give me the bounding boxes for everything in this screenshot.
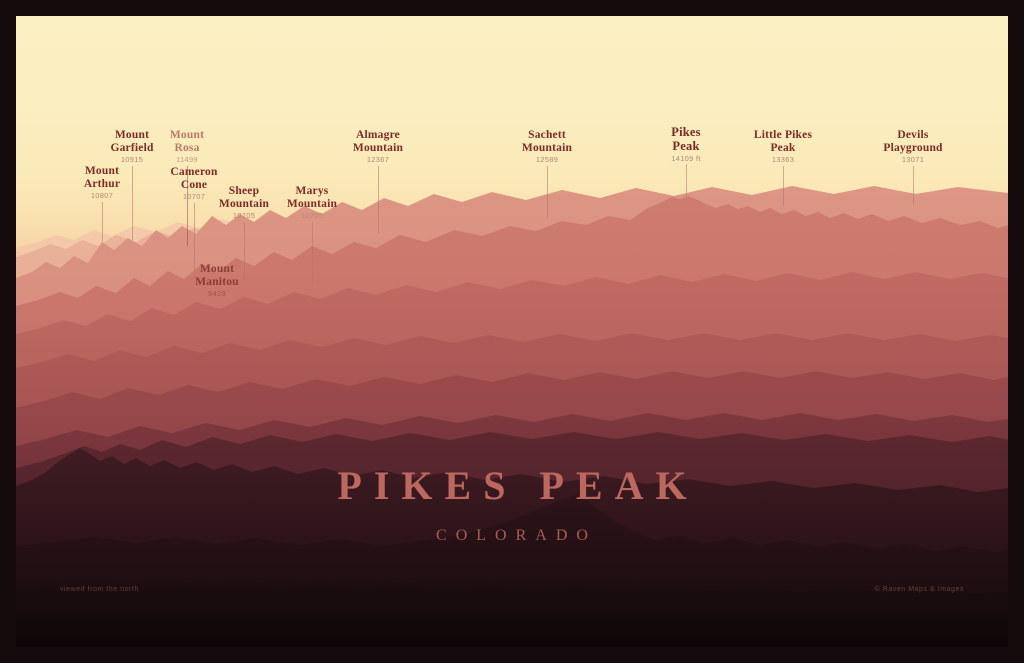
leader-line: [686, 164, 687, 196]
leader-line: [378, 166, 379, 234]
footer-viewpoint-note: viewed from the north: [60, 586, 139, 593]
poster-artwork: Mount Arthur10807Mount Garfield10915Moun…: [16, 16, 1008, 647]
peak-label: Almagre Mountain12367: [318, 129, 438, 165]
peak-elevation: 13363: [723, 156, 843, 164]
leader-line: [783, 166, 784, 206]
peak-elevation: 12367: [318, 156, 438, 164]
peak-elevation: 13071: [853, 156, 973, 164]
peak-name: Little Pikes Peak: [723, 129, 843, 155]
peak-name: Sachett Mountain: [487, 129, 607, 155]
peak-name: Devils Playground: [853, 129, 973, 155]
leader-line: [102, 202, 103, 242]
pikes-peak-poster: Mount Arthur10807Mount Garfield10915Moun…: [0, 0, 1024, 663]
mountain-ridge-layers: [16, 16, 1008, 647]
title-block: PIKES PEAK COLORADO: [16, 462, 1008, 545]
leader-line: [913, 166, 914, 204]
peak-label: Little Pikes Peak13363: [723, 129, 843, 165]
peak-label: Mount Rosa11499: [127, 129, 247, 165]
peak-label: Mount Manitou9429: [157, 263, 277, 299]
leader-line: [312, 222, 313, 284]
leader-line: [547, 166, 548, 218]
peak-label: Marys Mountain10705: [252, 185, 372, 221]
peak-name: Mount Manitou: [157, 263, 277, 289]
peak-name: Almagre Mountain: [318, 129, 438, 155]
peak-label: Sachett Mountain12589: [487, 129, 607, 165]
peak-elevation: 10705: [252, 212, 372, 220]
peak-name: Marys Mountain: [252, 185, 372, 211]
peak-elevation: 11499: [127, 156, 247, 164]
page-subtitle: COLORADO: [25, 527, 1008, 545]
peak-label: Devils Playground13071: [853, 129, 973, 165]
page-title: PIKES PEAK: [28, 462, 1008, 509]
footer-credit: © Raven Maps & Images: [875, 586, 964, 593]
peak-elevation: 9429: [157, 290, 277, 298]
peak-elevation: 12589: [487, 156, 607, 164]
peak-name: Mount Rosa: [127, 129, 247, 155]
